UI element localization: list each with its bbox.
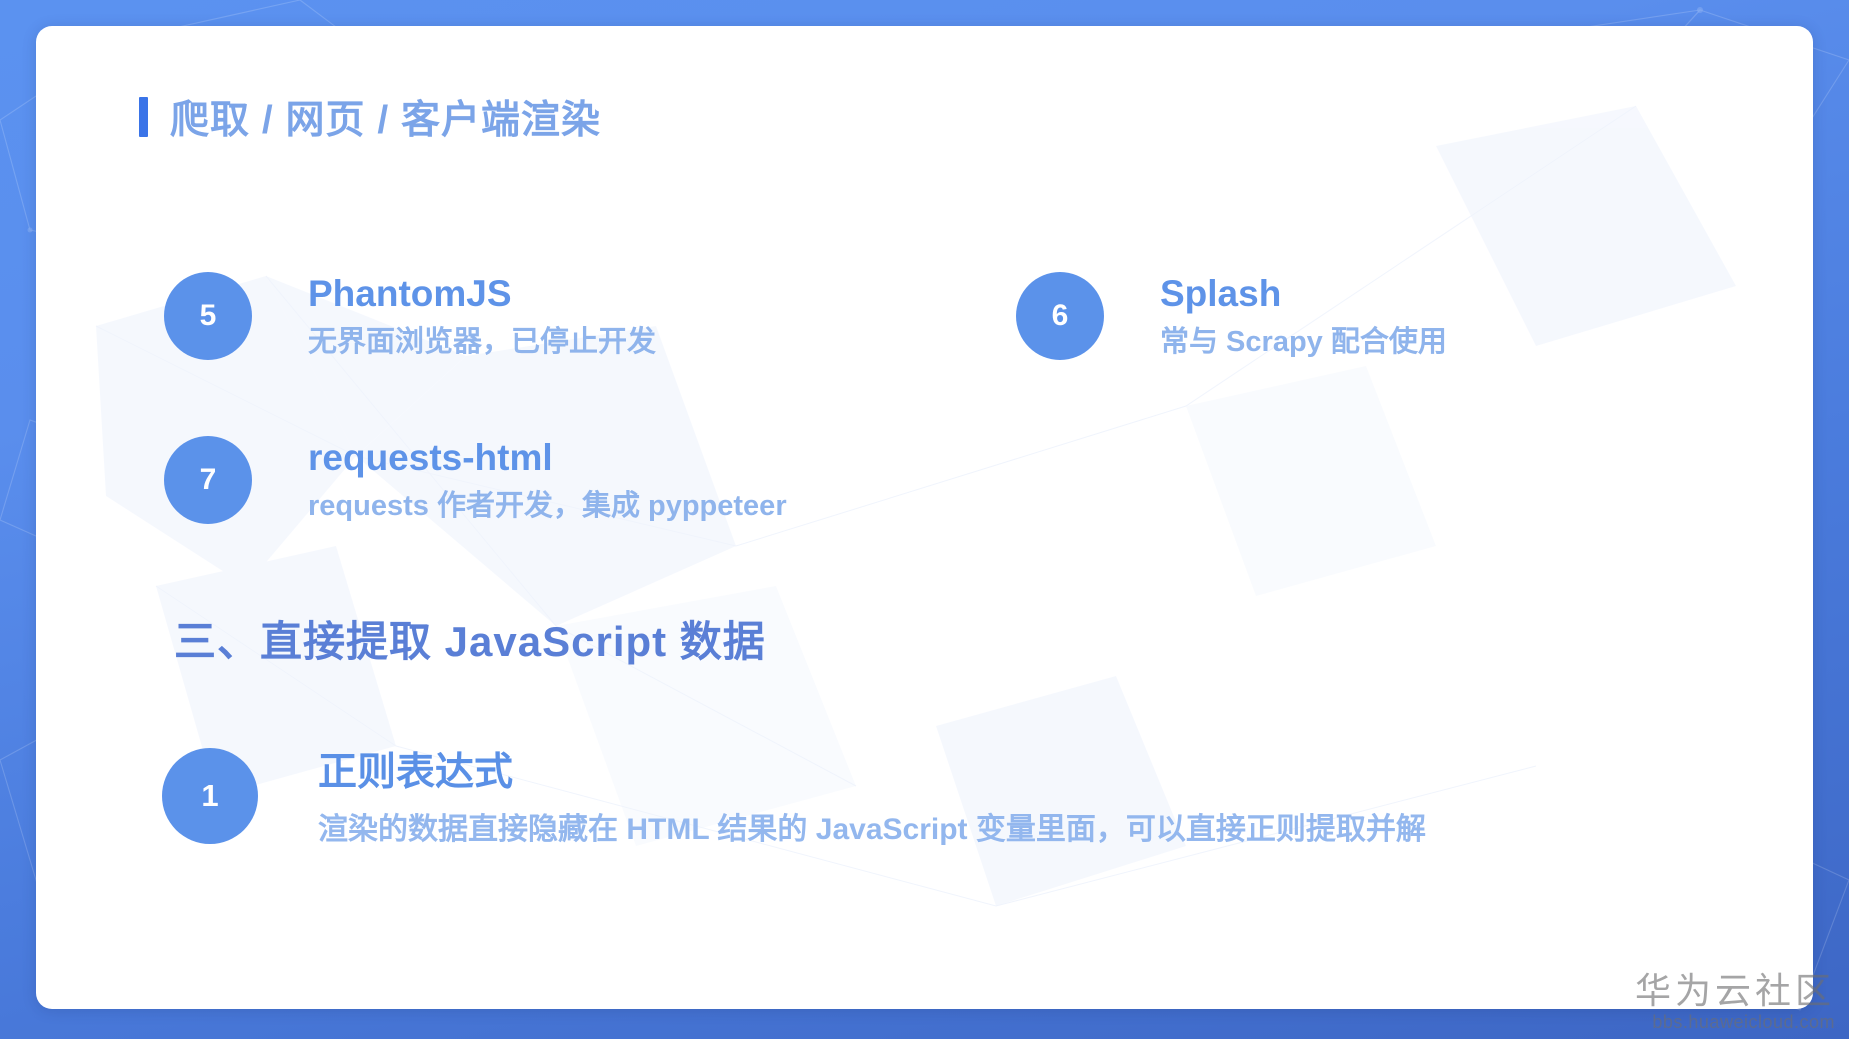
item-description: 无界面浏览器，已停止开发 — [308, 327, 656, 359]
item-text-block: Splash 常与 Scrapy 配合使用 — [1160, 274, 1447, 359]
list-item-splash: 6 Splash 常与 Scrapy 配合使用 — [1016, 272, 1447, 360]
item-title: 正则表达式 — [318, 752, 1426, 793]
title-accent-bar — [139, 97, 148, 137]
item-text-block: requests-html requests 作者开发，集成 pyppeteer — [308, 438, 787, 523]
list-item-phantomjs: 5 PhantomJS 无界面浏览器，已停止开发 — [164, 272, 656, 360]
list-item-regex: 1 正则表达式 渲染的数据直接隐藏在 HTML 结果的 JavaScript 变… — [162, 748, 1426, 846]
page-title: 爬取 / 网页 / 客户端渲染 — [170, 89, 601, 145]
item-description: requests 作者开发，集成 pyppeteer — [308, 491, 787, 523]
slide-root: 爬取 / 网页 / 客户端渲染 5 PhantomJS 无界面浏览器，已停止开发… — [0, 0, 1849, 1039]
item-description: 常与 Scrapy 配合使用 — [1160, 327, 1447, 359]
item-text-block: 正则表达式 渲染的数据直接隐藏在 HTML 结果的 JavaScript 变量里… — [318, 752, 1426, 846]
item-title: requests-html — [308, 438, 787, 477]
section-heading: 三、直接提取 JavaScript 数据 — [174, 608, 766, 669]
list-item-requests-html: 7 requests-html requests 作者开发，集成 pyppete… — [164, 436, 787, 524]
item-number-badge: 5 — [164, 272, 252, 360]
watermark-url: bbs.huaweicloud.com — [1635, 1012, 1835, 1033]
content-card: 爬取 / 网页 / 客户端渲染 5 PhantomJS 无界面浏览器，已停止开发… — [36, 26, 1813, 1009]
item-text-block: PhantomJS 无界面浏览器，已停止开发 — [308, 274, 656, 359]
item-number-badge: 1 — [162, 748, 258, 844]
item-description: 渲染的数据直接隐藏在 HTML 结果的 JavaScript 变量里面，可以直接… — [318, 813, 1426, 846]
item-number-badge: 7 — [164, 436, 252, 524]
item-number-badge: 6 — [1016, 272, 1104, 360]
item-title: Splash — [1160, 274, 1447, 313]
slide-title-row: 爬取 / 网页 / 客户端渲染 — [139, 89, 601, 145]
item-title: PhantomJS — [308, 274, 656, 313]
